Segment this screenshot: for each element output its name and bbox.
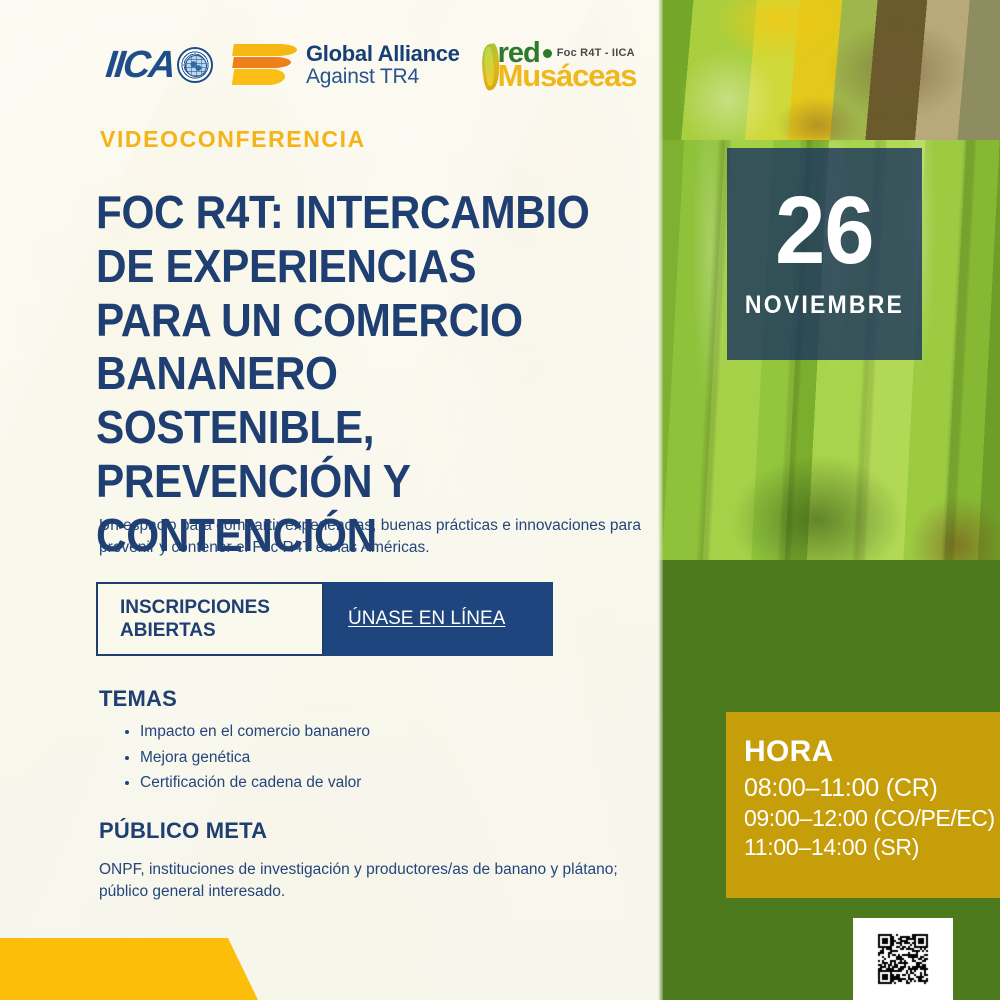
date-month: NOVIEMBRE xyxy=(745,291,904,320)
hora-line-cr: 08:00–11:00 (CR) xyxy=(744,772,1000,804)
page-title: FOC R4T: INTERCAMBIO DE EXPERIENCIAS PAR… xyxy=(96,186,593,563)
registration-status-badge: INSCRIPCIONES ABIERTAS xyxy=(96,582,324,656)
global-alliance-text: Global Alliance Against TR4 xyxy=(306,43,460,87)
publico-heading: PÚBLICO META xyxy=(99,818,267,844)
qr-code-canvas[interactable] xyxy=(858,923,948,995)
qr-code[interactable] xyxy=(853,918,953,1000)
date-badge: 26 NOVIEMBRE xyxy=(727,148,922,360)
bottom-accent-shape xyxy=(0,938,258,1000)
poster-canvas: IICA Global Alliance Against TR4 red Foc… xyxy=(0,0,1000,1000)
iica-wordmark: IICA xyxy=(104,44,177,87)
logo-iica: IICA xyxy=(106,36,213,94)
publico-text: ONPF, instituciones de investigación y p… xyxy=(99,859,627,903)
hora-box: HORA 08:00–11:00 (CR) 09:00–12:00 (CO/PE… xyxy=(726,712,1000,898)
list-item: Mejora genética xyxy=(140,745,370,771)
temas-heading: TEMAS xyxy=(99,686,177,712)
photo-left-seam xyxy=(658,0,663,1000)
swoosh-icon xyxy=(233,42,297,88)
global-alliance-line2: Against TR4 xyxy=(306,66,460,87)
join-online-link[interactable]: ÚNASE EN LÍNEA xyxy=(348,607,505,630)
temas-list: Impacto en el comercio bananero Mejora g… xyxy=(118,719,370,796)
logo-row: IICA Global Alliance Against TR4 red Foc… xyxy=(106,36,636,94)
list-item: Impacto en el comercio bananero xyxy=(140,719,370,745)
date-day: 26 xyxy=(775,188,873,274)
logo-red-musaceas: red Foc R4T - IICA Musáceas xyxy=(482,36,637,94)
lede-paragraph: Un espacio para compartir experiencias, … xyxy=(99,515,651,559)
green-dot-icon xyxy=(543,49,552,58)
hora-line-sr: 11:00–14:00 (SR) xyxy=(744,833,1000,862)
red-musaceas-tagline: Foc R4T - IICA xyxy=(557,48,635,58)
globe-seal-icon xyxy=(177,47,213,83)
kicker-label: VIDEOCONFERENCIA xyxy=(100,126,366,153)
photo-band-bottom xyxy=(658,0,1000,140)
hora-line-co-pe-ec: 09:00–12:00 (CO/PE/EC) xyxy=(744,804,1000,833)
join-online-button[interactable]: ÚNASE EN LÍNEA xyxy=(324,582,553,656)
red-musaceas-text: red Foc R4T - IICA Musáceas xyxy=(498,40,637,91)
musaceas-word: Musáceas xyxy=(498,62,637,90)
list-item: Certificación de cadena de valor xyxy=(140,770,370,796)
cta-group: INSCRIPCIONES ABIERTAS ÚNASE EN LÍNEA xyxy=(96,582,553,656)
global-alliance-line1: Global Alliance xyxy=(306,43,460,65)
hora-heading: HORA xyxy=(744,736,1000,768)
logo-global-alliance: Global Alliance Against TR4 xyxy=(233,36,460,94)
